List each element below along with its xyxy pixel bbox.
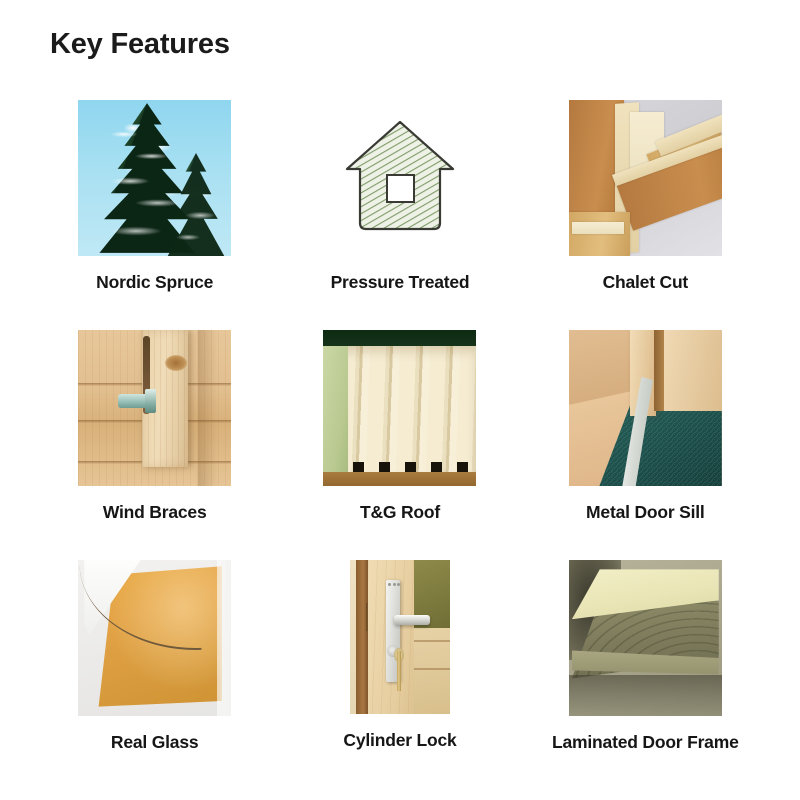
roof-boards [340,346,476,474]
feature-item-pressure-treated[interactable]: Pressure Treated [277,100,522,330]
feature-label: Real Glass [111,732,199,753]
key-blade [397,651,401,691]
door-frame [356,560,368,714]
frame-edge [217,560,231,716]
feature-item-cylinder-lock[interactable]: Cylinder Lock [277,560,522,790]
feature-item-chalet-cut[interactable]: Chalet Cut [523,100,768,330]
feature-label: Nordic Spruce [96,272,213,293]
lever-handle[interactable] [394,615,430,624]
feature-item-tg-roof[interactable]: T&G Roof [277,330,522,560]
feature-label: Chalet Cut [603,272,689,293]
feature-item-metal-door-sill[interactable]: Metal Door Sill [523,330,768,560]
lower-shadow [569,675,722,716]
page-title: Key Features [50,28,230,61]
base-surface [323,472,476,486]
feature-item-wind-braces[interactable]: Wind Braces [32,330,277,560]
feature-label: Wind Braces [103,502,207,523]
feature-label: Pressure Treated [331,272,470,293]
door-leaf [664,330,722,411]
feature-item-real-glass[interactable]: Real Glass [32,560,277,790]
feature-label: T&G Roof [360,502,440,523]
feature-item-nordic-spruce[interactable]: Nordic Spruce [32,100,277,330]
metal-door-sill-photo [569,330,722,486]
real-glass-pane-photo [78,560,231,716]
feature-label: Laminated Door Frame [552,732,739,753]
edge-shadow [198,330,232,486]
green-felt-strip [323,330,476,347]
snowy-spruce-tree-photo [78,100,231,256]
feature-item-laminated-door-frame[interactable]: Laminated Door Frame [523,560,768,790]
key-features-page: Key Features Nordic Spruce [0,0,800,800]
feature-label: Metal Door Sill [586,502,705,523]
bolt-head [145,389,156,412]
chalet-cut-timber-joint-photo [569,100,722,256]
tongue-and-groove-roof-boards-photo [323,330,476,486]
features-grid: Nordic Spruce Pressure Treated [32,100,768,790]
wind-brace-bolt-photo [78,330,231,486]
hatched-house-icon [323,100,476,256]
cylinder-lock-door-handle-photo [350,560,450,714]
feature-label: Cylinder Lock [343,730,456,751]
board-end-edge [323,346,347,474]
laminated-door-frame-timber-photo [569,560,722,716]
